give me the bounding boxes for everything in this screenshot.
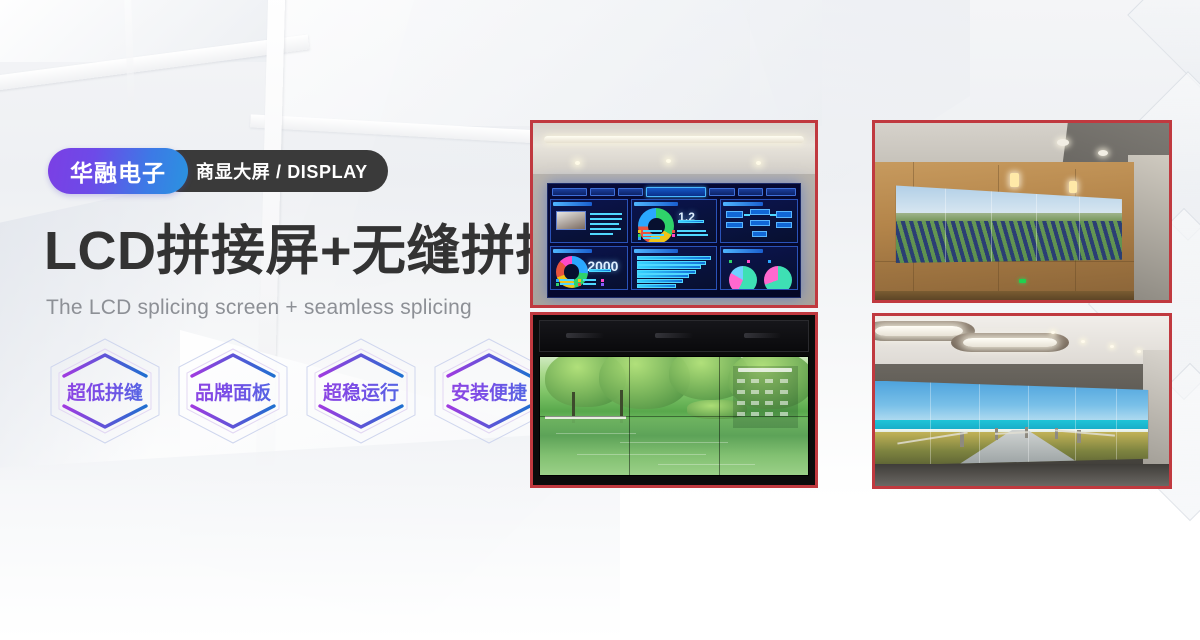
panel-kpi-caption (678, 220, 703, 223)
dashboard-panel-intro (550, 199, 627, 243)
brand-badge: 华融电子 (48, 148, 188, 194)
feature-badge-label: 超稳运行 (302, 336, 420, 446)
legend-swatch (578, 283, 581, 286)
calendar-cell (751, 379, 759, 383)
video-wall-screen (539, 356, 810, 477)
legend-swatch (729, 260, 732, 263)
pie-chart (764, 266, 792, 290)
promo-banner: 华融电子 商显大屏 / DISPLAY LCD拼接屏+无缝拼接 The LCD … (0, 0, 1200, 640)
feature-badge-item: 超低拼缝 (46, 336, 164, 446)
panel-image (556, 211, 586, 230)
dashboard-panel-pie-stats (720, 246, 798, 290)
ranking-bar (637, 265, 701, 269)
ranking-bar (637, 261, 707, 265)
product-photo-willow-lake-wall (530, 312, 818, 488)
flow-node (776, 211, 793, 218)
dashboard-nav-chip (738, 188, 763, 196)
calendar-cell (751, 401, 759, 405)
flow-node (776, 222, 793, 228)
screen-reflection (744, 333, 782, 338)
downlight-icon (1081, 340, 1085, 343)
feature-badge-item: 品牌面板 (174, 336, 292, 446)
cove-light (544, 136, 803, 143)
bezel-seam (1075, 381, 1076, 466)
bezel-seam (979, 381, 980, 466)
feature-badge-label: 超低拼缝 (46, 336, 164, 446)
legend-label (643, 234, 663, 236)
product-photo-control-room: 1.2 (530, 120, 818, 308)
ranking-bar (637, 270, 696, 274)
flow-node (752, 231, 767, 237)
legend-swatch (672, 234, 675, 237)
screen-reflection (566, 333, 604, 338)
water-ripple (577, 454, 706, 455)
cove-light (963, 338, 1057, 347)
legend-swatch (768, 260, 771, 263)
water-ripple (556, 433, 637, 434)
flow-link (770, 214, 776, 216)
dashboard-panel-flow-diagram (720, 199, 798, 243)
calendar-overlay (733, 366, 797, 428)
category-badge: 商显大屏 / DISPLAY (158, 150, 388, 192)
legend-swatch (638, 237, 641, 240)
legend-label (583, 283, 597, 285)
legend-label (677, 230, 706, 232)
calendar-cell (751, 390, 759, 394)
calendar-cell (765, 379, 773, 383)
calendar-cell (737, 390, 745, 394)
legend-swatch (747, 260, 750, 263)
bezel-seam (1028, 381, 1029, 466)
ranking-bar (637, 284, 676, 288)
page-subtitle: The LCD splicing screen + seamless splic… (46, 296, 472, 320)
dashboard-panel-donut-stats: 1.2 (631, 199, 718, 243)
bezel-seam (1036, 183, 1037, 263)
feature-badge-list: 超低拼缝 品牌面板 (46, 336, 548, 446)
panel-text-line (590, 228, 620, 230)
pie-chart (729, 266, 757, 290)
calendar-cell (780, 401, 788, 405)
dashboard-nav-chip (552, 188, 587, 196)
dashboard-panel-bar-ranking (631, 246, 718, 290)
calendar-cell (765, 401, 773, 405)
banner-text-column: 华融电子 商显大屏 / DISPLAY LCD拼接屏+无缝拼接 The LCD … (44, 0, 514, 640)
dashboard-nav-chip (766, 188, 796, 196)
flow-node (726, 211, 743, 218)
legend-swatch (601, 279, 604, 282)
panel-header (634, 249, 678, 253)
brand-badge-group: 华融电子 商显大屏 / DISPLAY (48, 148, 388, 194)
dashboard-panel-grid: 1.2 (550, 199, 798, 290)
dashboard-title-chip (646, 187, 706, 197)
exit-sign-icon (1019, 279, 1026, 283)
bezel-seam (930, 381, 931, 466)
bezel-seam (540, 416, 809, 417)
legend-label (643, 230, 662, 232)
flow-node (750, 209, 770, 215)
solar-panel-field (896, 221, 1122, 263)
screen-reflection (655, 333, 693, 338)
downlight-icon (1098, 150, 1108, 156)
legend-label (560, 283, 574, 285)
product-photo-beach-wall (872, 313, 1172, 489)
ranking-bar (637, 279, 684, 283)
legend-label (643, 237, 660, 239)
downlight-icon (1137, 350, 1141, 353)
panel-text-line (590, 218, 622, 220)
panel-header (553, 202, 592, 206)
wall-sconce-icon (1010, 173, 1019, 187)
flow-node (726, 222, 743, 228)
calendar-cell (780, 390, 788, 394)
dashboard-navbar (550, 186, 798, 197)
legend-swatch (556, 283, 559, 286)
ranking-bar (637, 274, 690, 278)
video-wall-screen (875, 381, 1148, 466)
ceiling (533, 123, 815, 178)
water-ripple (658, 464, 755, 465)
cove-light (875, 326, 963, 336)
calendar-cell (737, 401, 745, 405)
legend-swatch (601, 283, 604, 286)
panel-text-line (590, 223, 619, 225)
side-wall (1128, 155, 1169, 300)
dashboard-panel-capacity: 2000 (550, 246, 627, 290)
page-title: LCD拼接屏+无缝拼接 (44, 224, 570, 278)
panel-kpi-caption (589, 269, 612, 272)
panel-text-line (590, 213, 622, 215)
water-ripple (620, 442, 727, 443)
panel-header (634, 202, 678, 206)
calendar-cell (737, 379, 745, 383)
legend-label (560, 279, 574, 281)
upper-screen-row-off (539, 320, 810, 352)
bezel-seam (945, 183, 946, 263)
legend-label (677, 234, 708, 236)
dashboard-nav-chip (618, 188, 643, 196)
panel-header (553, 249, 592, 253)
feature-badge-label: 品牌面板 (174, 336, 292, 446)
floor-line (875, 291, 1134, 300)
panel-text-line (590, 233, 613, 235)
legend-label (583, 279, 597, 281)
legend-swatch (578, 279, 581, 282)
calendar-cell (780, 379, 788, 383)
legend-swatch (556, 279, 559, 282)
bezel-seam (991, 183, 992, 263)
dashboard-nav-chip (590, 188, 615, 196)
flow-node (750, 220, 770, 226)
panel-header (723, 202, 762, 206)
product-photo-corridor-wall (872, 120, 1172, 303)
ranking-bar (637, 256, 712, 260)
feature-badge-item: 超稳运行 (302, 336, 420, 446)
wall-sconce-icon (1069, 181, 1077, 193)
flow-link (744, 214, 750, 216)
bezel-seam (1116, 381, 1117, 466)
panel-header (723, 249, 762, 253)
video-wall-screen: 1.2 (547, 183, 801, 298)
floor (875, 464, 1169, 486)
calendar-title (738, 368, 792, 373)
calendar-cell (765, 390, 773, 394)
dashboard-nav-chip (709, 188, 734, 196)
